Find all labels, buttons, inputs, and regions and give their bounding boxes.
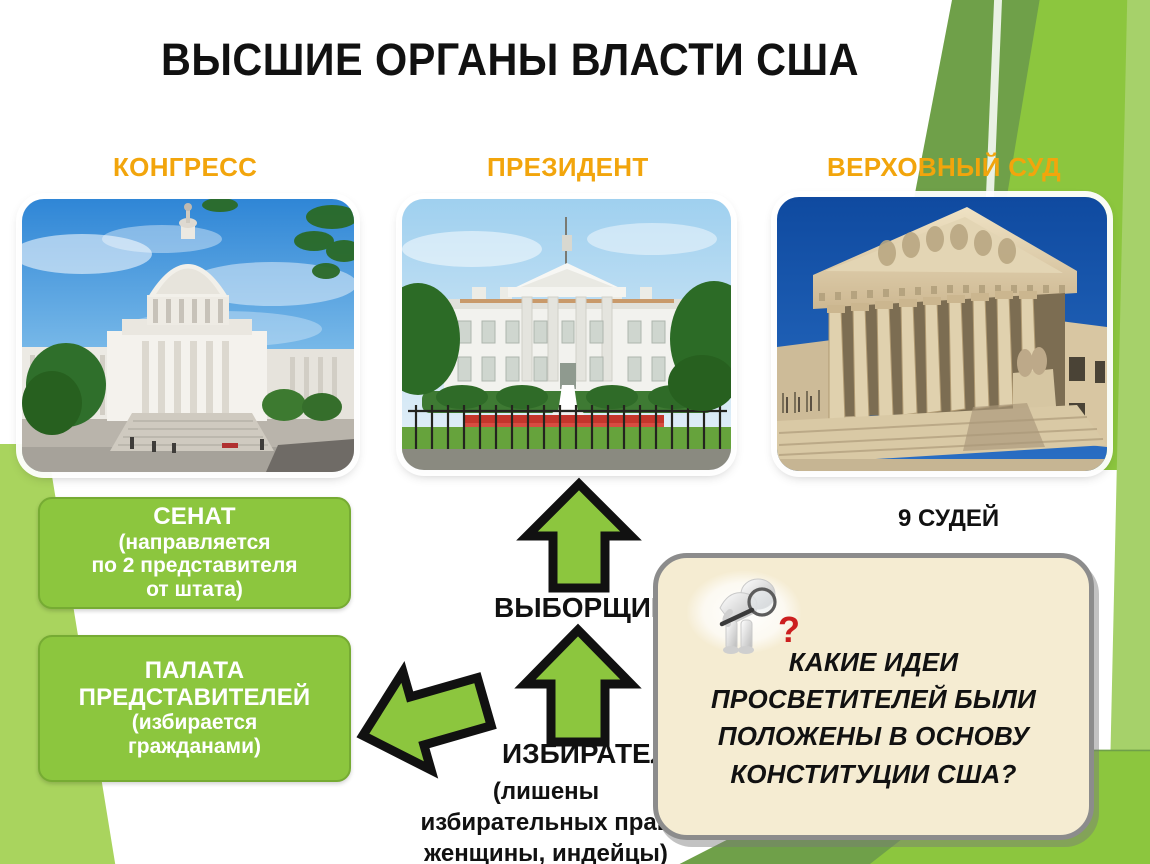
slide-canvas: ВЫСШИЕ ОРГАНЫ ВЛАСТИ США КОНГРЕСС ПРЕЗИД…: [0, 0, 1150, 864]
senate-info-box: СЕНАТ (направляется по 2 представителя о…: [38, 497, 351, 609]
house-heading-line-1: ПАЛАТА: [48, 658, 341, 685]
arrow-voters-to-electors-icon: [521, 626, 635, 746]
house-of-representatives-info-box: ПАЛАТА ПРЕДСТАВИТЕЛЕЙ (избирается гражда…: [38, 635, 351, 782]
question-line-1: КАКИЕ ИДЕИ: [672, 644, 1075, 681]
arrow-voters-to-house-icon: [355, 658, 493, 783]
column-caption-supreme-court: ВЕРХОВНЫЙ СУД: [827, 152, 1061, 183]
supreme-court-photo: [777, 197, 1107, 471]
question-text: КАКИЕ ИДЕИ ПРОСВЕТИТЕЛЕЙ БЫЛИ ПОЛОЖЕНЫ В…: [672, 644, 1075, 793]
senate-line-3: от штата): [48, 578, 341, 602]
senate-heading: СЕНАТ: [48, 504, 341, 531]
column-caption-congress: КОНГРЕСС: [113, 152, 257, 183]
senate-line-1: (направляется: [48, 531, 341, 555]
white-house-photo: [402, 199, 731, 470]
us-capitol-photo: [22, 199, 354, 472]
question-line-3: ПОЛОЖЕНЫ В ОСНОВУ: [672, 718, 1075, 755]
column-caption-president: ПРЕЗИДЕНТ: [487, 152, 649, 183]
label-voters-note-line-1: (лишены избирательных прав: [396, 776, 696, 838]
question-callout-box: ? КАКИЕ ИДЕИ ПРОСВЕТИТЕЛЕЙ БЫЛИ ПОЛОЖЕНЫ…: [653, 553, 1094, 840]
senate-line-2: по 2 представителя: [48, 554, 341, 578]
question-line-2: ПРОСВЕТИТЕЛЕЙ БЫЛИ: [672, 681, 1075, 718]
house-line-2: гражданами): [48, 735, 341, 759]
slide-title: ВЫСШИЕ ОРГАНЫ ВЛАСТИ США: [41, 34, 979, 86]
label-voters-note: (лишены избирательных прав женщины, инде…: [396, 776, 696, 864]
house-line-1: (избирается: [48, 711, 341, 735]
thinking-figure-with-magnifier-icon: ?: [686, 568, 806, 656]
house-heading-line-2: ПРЕДСТАВИТЕЛЕЙ: [48, 685, 341, 712]
question-line-4: КОНСТИТУЦИИ США?: [672, 756, 1075, 793]
label-voters-note-line-2: женщины, индейцы): [396, 838, 696, 864]
arrow-electors-to-president-icon: [523, 480, 635, 592]
label-nine-judges: 9 СУДЕЙ: [898, 505, 999, 533]
